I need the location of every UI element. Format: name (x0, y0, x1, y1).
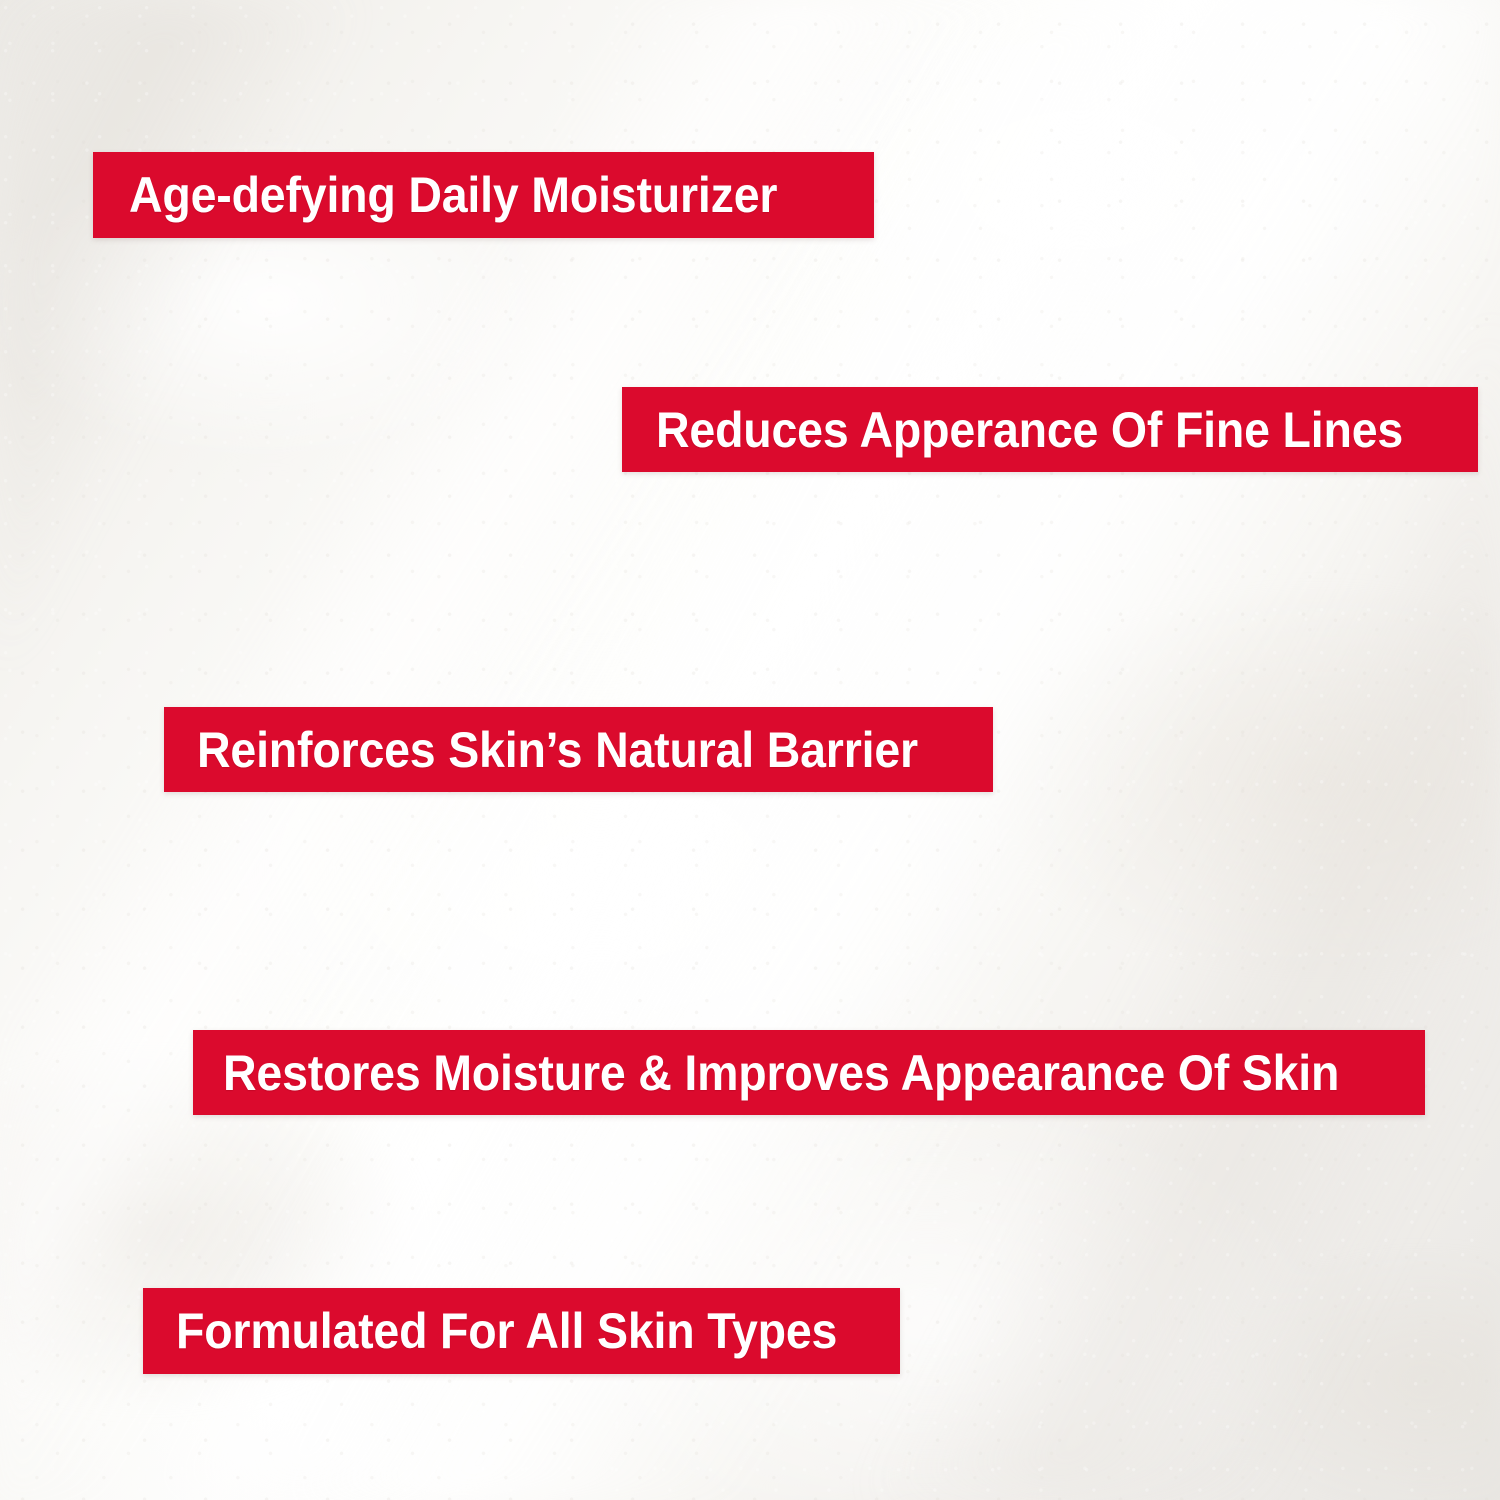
benefit-banner-label: Restores Moisture & Improves Appearance … (223, 1048, 1339, 1098)
benefit-banner-age-defying-daily-moisturizer: Age-defying Daily Moisturizer (93, 152, 874, 238)
benefit-banner-reinforces-skins-natural-barrier: Reinforces Skin’s Natural Barrier (164, 707, 993, 792)
benefit-banner-label: Formulated For All Skin Types (176, 1306, 837, 1356)
benefit-banner-restores-moisture-improves-appearance-of-skin: Restores Moisture & Improves Appearance … (193, 1030, 1425, 1115)
benefit-banner-reduces-apperance-of-fine-lines: Reduces Apperance Of Fine Lines (622, 387, 1478, 472)
benefit-banner-label: Age-defying Daily Moisturizer (129, 170, 777, 220)
benefit-banner-label: Reduces Apperance Of Fine Lines (656, 405, 1403, 455)
benefit-banner-formulated-for-all-skin-types: Formulated For All Skin Types (143, 1288, 900, 1374)
product-benefits-graphic: Age-defying Daily Moisturizer Reduces Ap… (0, 0, 1500, 1500)
benefit-banner-label: Reinforces Skin’s Natural Barrier (197, 725, 918, 775)
